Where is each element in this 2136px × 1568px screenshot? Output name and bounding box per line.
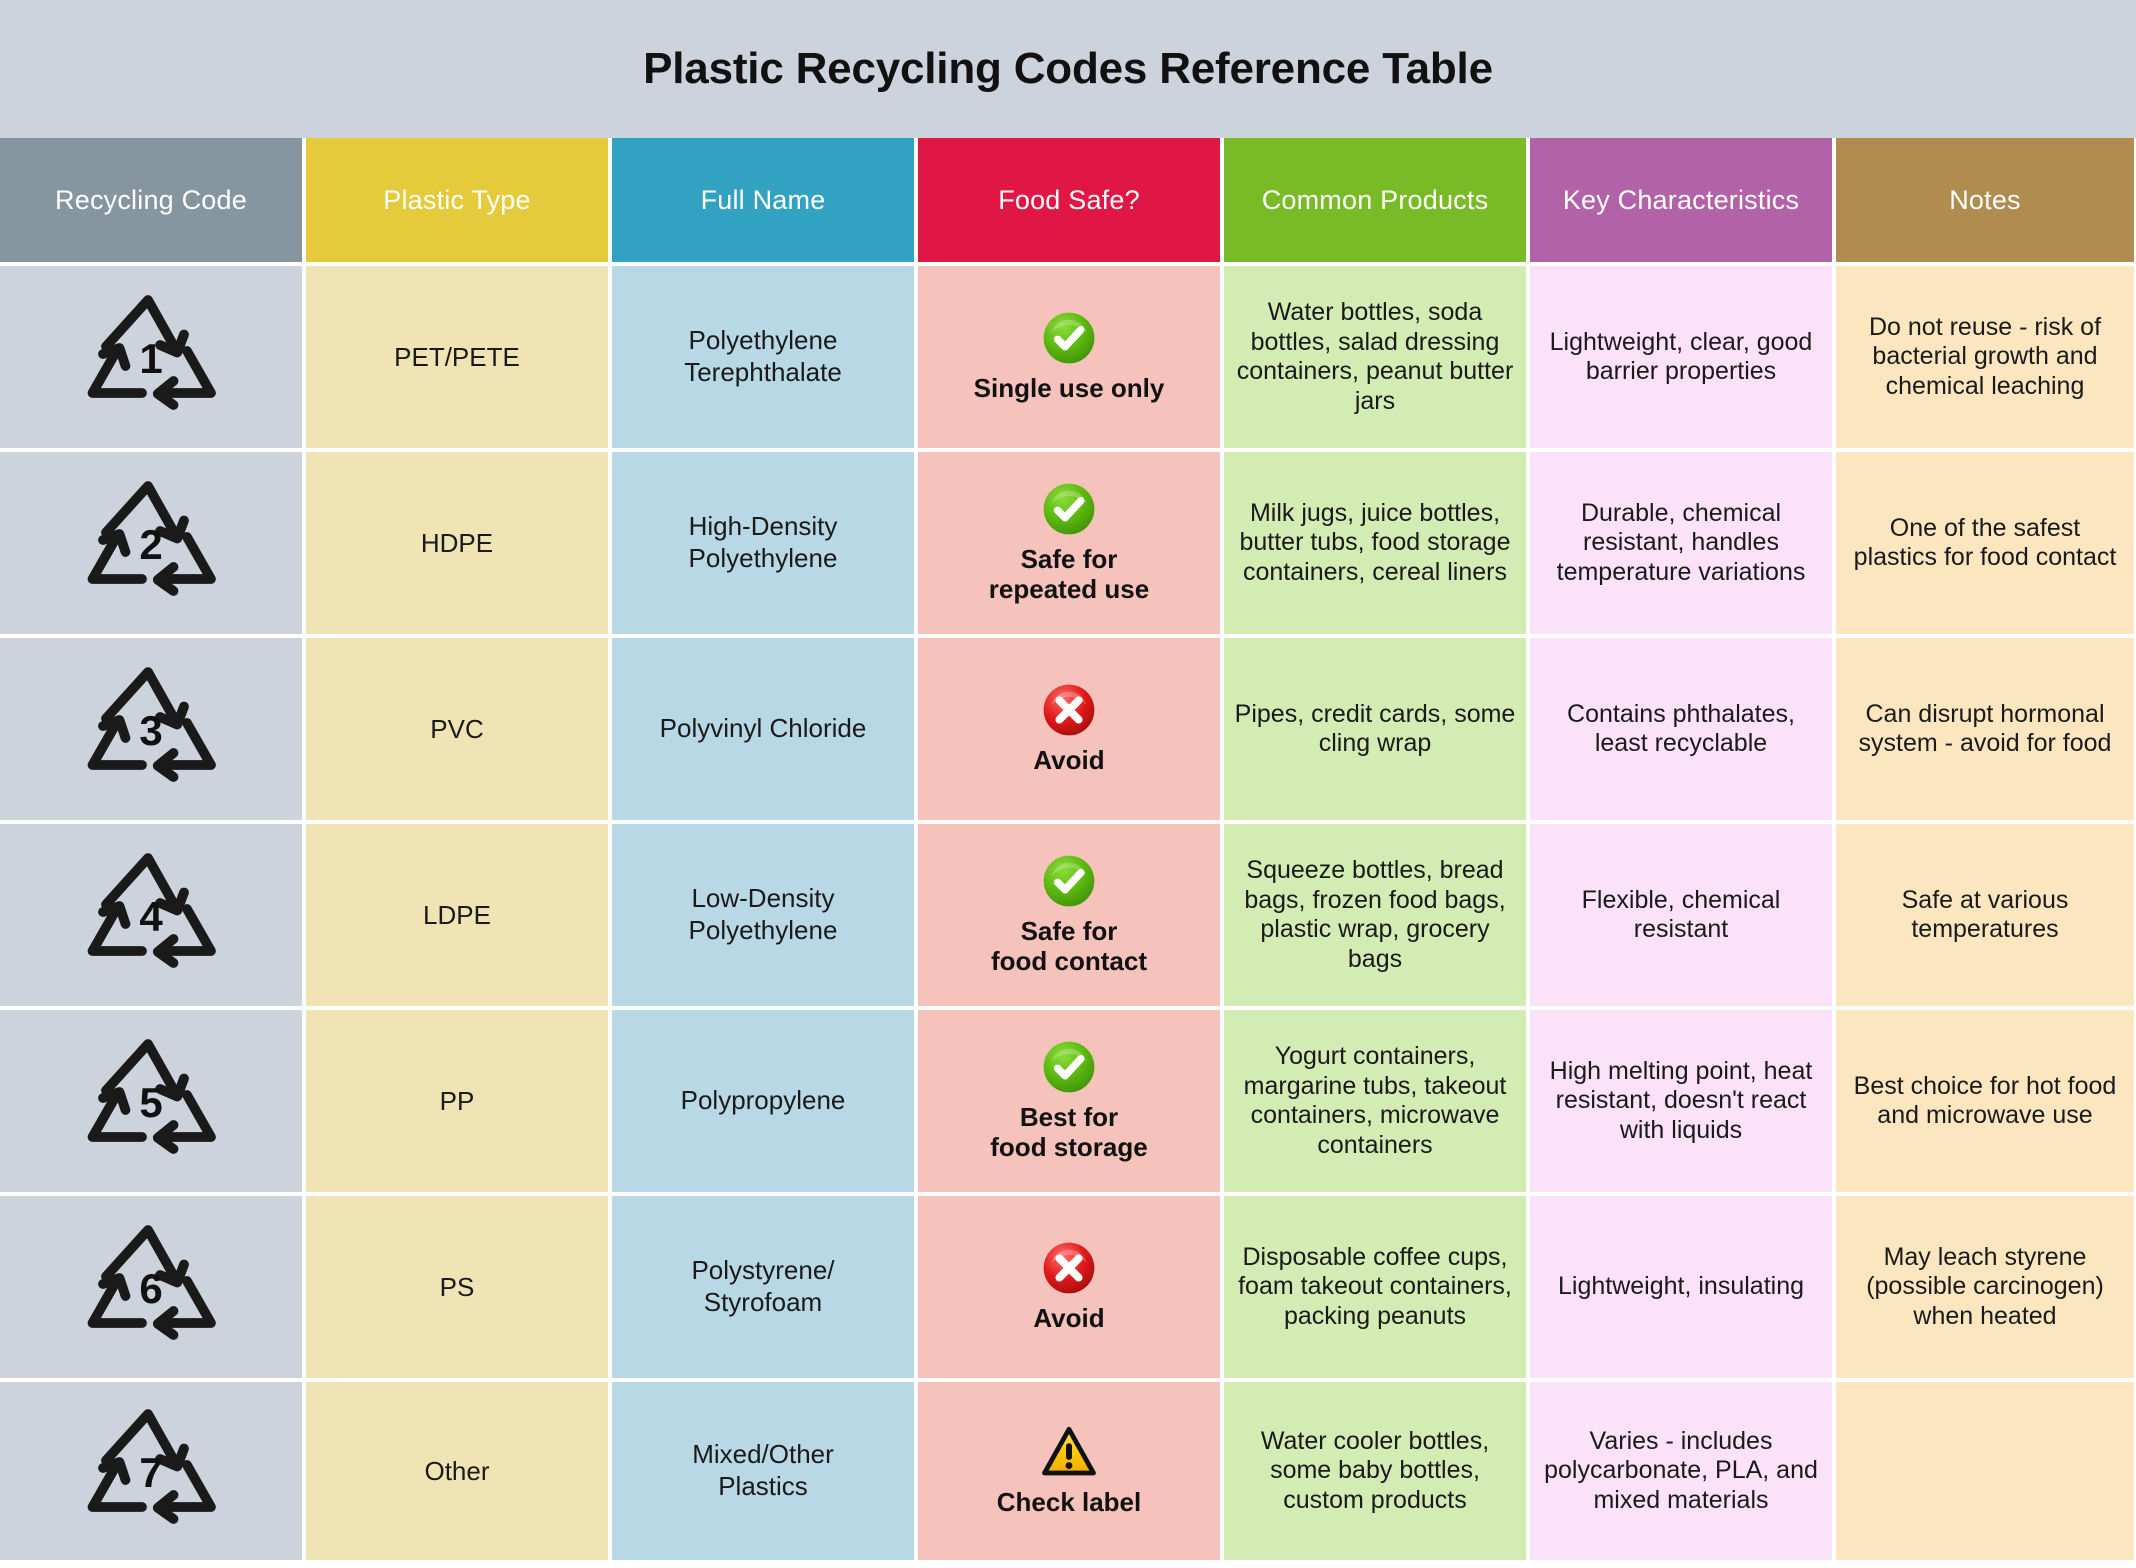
- cell-full-name: Polypropylene: [612, 1010, 914, 1192]
- recycling-symbol: 1: [76, 291, 226, 423]
- cell-notes: Do not reuse - risk of bacterial growth …: [1836, 266, 2134, 448]
- cell-recycling-code: 4: [0, 824, 302, 1006]
- cell-food-safe: Safe for food contact: [918, 824, 1220, 1006]
- cell-notes: One of the safest plastics for food cont…: [1836, 452, 2134, 634]
- mobius-loop-icon: [76, 663, 226, 795]
- check-circle-icon: [1041, 481, 1097, 537]
- food-safe-status: Best for food storage: [990, 1039, 1147, 1163]
- recycling-symbol: 4: [76, 849, 226, 981]
- food-safe-icon-host: [1041, 1240, 1097, 1296]
- cell-full-name: Mixed/Other Plastics: [612, 1382, 914, 1560]
- table-row: 1 PET/PETEPolyethylene Terephthalate Sin…: [0, 266, 2136, 448]
- cell-plastic-type: LDPE: [306, 824, 608, 1006]
- recycling-codes-page: Plastic Recycling Codes Reference Table …: [0, 0, 2136, 1568]
- cell-full-name: Polyethylene Terephthalate: [612, 266, 914, 448]
- cell-food-safe: Avoid: [918, 1196, 1220, 1378]
- food-safe-label: Avoid: [1033, 746, 1104, 776]
- table-row: 2 HDPEHigh-Density Polyethylene Safe for…: [0, 452, 2136, 634]
- table-row: 3 PVCPolyvinyl Chloride AvoidPipes, cred…: [0, 638, 2136, 820]
- cell-full-name: Polystyrene/ Styrofoam: [612, 1196, 914, 1378]
- cell-plastic-type: PET/PETE: [306, 266, 608, 448]
- cell-notes: May leach styrene (possible carcinogen) …: [1836, 1196, 2134, 1378]
- cell-notes: Best choice for hot food and microwave u…: [1836, 1010, 2134, 1192]
- food-safe-status: Check label: [997, 1424, 1142, 1518]
- cell-common-products: Milk jugs, juice bottles, butter tubs, f…: [1224, 452, 1526, 634]
- check-circle-icon: [1041, 310, 1097, 366]
- table-row: 5 PPPolypropylene Best for food storageY…: [0, 1010, 2136, 1192]
- cell-notes: Can disrupt hormonal system - avoid for …: [1836, 638, 2134, 820]
- mobius-loop-icon: [76, 291, 226, 423]
- table-row: 6 PSPolystyrene/ Styrofoam AvoidDisposab…: [0, 1196, 2136, 1378]
- cell-key-characteristics: Lightweight, insulating: [1530, 1196, 1832, 1378]
- mobius-loop-icon: [76, 477, 226, 609]
- food-safe-icon-host: [1041, 481, 1097, 537]
- title-bar: Plastic Recycling Codes Reference Table: [0, 0, 2136, 138]
- column-header-plastic_type[interactable]: Plastic Type: [306, 138, 608, 262]
- recycling-symbol: 7: [76, 1405, 226, 1537]
- cell-notes: Safe at various temperatures: [1836, 824, 2134, 1006]
- food-safe-status: Safe for food contact: [991, 853, 1147, 977]
- cell-common-products: Water bottles, soda bottles, salad dress…: [1224, 266, 1526, 448]
- check-circle-icon: [1041, 853, 1097, 909]
- cell-key-characteristics: Contains phthalates, least recyclable: [1530, 638, 1832, 820]
- check-circle-icon: [1041, 1039, 1097, 1095]
- table-row: 7 OtherMixed/Other Plastics Check labelW…: [0, 1382, 2136, 1560]
- cell-key-characteristics: High melting point, heat resistant, does…: [1530, 1010, 1832, 1192]
- table-body: 1 PET/PETEPolyethylene Terephthalate Sin…: [0, 266, 2136, 1560]
- cell-common-products: Squeeze bottles, bread bags, frozen food…: [1224, 824, 1526, 1006]
- cell-key-characteristics: Durable, chemical resistant, handles tem…: [1530, 452, 1832, 634]
- column-header-recycling_code[interactable]: Recycling Code: [0, 138, 302, 262]
- food-safe-status: Avoid: [1033, 1240, 1104, 1334]
- warning-triangle-icon: [1041, 1424, 1097, 1480]
- cell-key-characteristics: Flexible, chemical resistant: [1530, 824, 1832, 1006]
- food-safe-icon-host: [1041, 682, 1097, 738]
- x-circle-icon: [1041, 682, 1097, 738]
- cell-common-products: Pipes, credit cards, some cling wrap: [1224, 638, 1526, 820]
- cell-plastic-type: Other: [306, 1382, 608, 1560]
- column-header-key_characteristics[interactable]: Key Characteristics: [1530, 138, 1832, 262]
- cell-key-characteristics: Varies - includes polycarbonate, PLA, an…: [1530, 1382, 1832, 1560]
- cell-recycling-code: 2: [0, 452, 302, 634]
- food-safe-label: Single use only: [974, 374, 1165, 404]
- page-title: Plastic Recycling Codes Reference Table: [643, 44, 1493, 94]
- food-safe-label: Safe for food contact: [991, 917, 1147, 977]
- cell-plastic-type: PS: [306, 1196, 608, 1378]
- cell-food-safe: Single use only: [918, 266, 1220, 448]
- cell-key-characteristics: Lightweight, clear, good barrier propert…: [1530, 266, 1832, 448]
- mobius-loop-icon: [76, 1035, 226, 1167]
- column-header-full_name[interactable]: Full Name: [612, 138, 914, 262]
- recycling-symbol: 3: [76, 663, 226, 795]
- cell-recycling-code: 3: [0, 638, 302, 820]
- recycling-codes-table: Recycling CodePlastic TypeFull NameFood …: [0, 138, 2136, 1568]
- food-safe-icon-host: [1041, 1039, 1097, 1095]
- food-safe-icon-host: [1041, 1424, 1097, 1480]
- food-safe-label: Safe for repeated use: [989, 545, 1149, 605]
- x-circle-icon: [1041, 1240, 1097, 1296]
- food-safe-status: Avoid: [1033, 682, 1104, 776]
- cell-recycling-code: 7: [0, 1382, 302, 1560]
- mobius-loop-icon: [76, 1221, 226, 1353]
- cell-recycling-code: 5: [0, 1010, 302, 1192]
- cell-full-name: Polyvinyl Chloride: [612, 638, 914, 820]
- cell-food-safe: Avoid: [918, 638, 1220, 820]
- food-safe-label: Check label: [997, 1488, 1142, 1518]
- mobius-loop-icon: [76, 849, 226, 981]
- food-safe-label: Avoid: [1033, 1304, 1104, 1334]
- table-row: 4 LDPELow-Density Polyethylene Safe for …: [0, 824, 2136, 1006]
- recycling-symbol: 5: [76, 1035, 226, 1167]
- food-safe-icon-host: [1041, 310, 1097, 366]
- food-safe-icon-host: [1041, 853, 1097, 909]
- table-header-row: Recycling CodePlastic TypeFull NameFood …: [0, 138, 2136, 262]
- cell-common-products: Disposable coffee cups, foam takeout con…: [1224, 1196, 1526, 1378]
- cell-notes: [1836, 1382, 2134, 1560]
- food-safe-status: Single use only: [974, 310, 1165, 404]
- cell-common-products: Yogurt containers, margarine tubs, takeo…: [1224, 1010, 1526, 1192]
- recycling-symbol: 6: [76, 1221, 226, 1353]
- recycling-symbol: 2: [76, 477, 226, 609]
- cell-food-safe: Best for food storage: [918, 1010, 1220, 1192]
- food-safe-label: Best for food storage: [990, 1103, 1147, 1163]
- column-header-food_safe[interactable]: Food Safe?: [918, 138, 1220, 262]
- cell-plastic-type: HDPE: [306, 452, 608, 634]
- cell-common-products: Water cooler bottles, some baby bottles,…: [1224, 1382, 1526, 1560]
- mobius-loop-icon: [76, 1405, 226, 1537]
- cell-full-name: Low-Density Polyethylene: [612, 824, 914, 1006]
- food-safe-status: Safe for repeated use: [989, 481, 1149, 605]
- cell-full-name: High-Density Polyethylene: [612, 452, 914, 634]
- cell-food-safe: Check label: [918, 1382, 1220, 1560]
- cell-food-safe: Safe for repeated use: [918, 452, 1220, 634]
- cell-recycling-code: 6: [0, 1196, 302, 1378]
- column-header-notes[interactable]: Notes: [1836, 138, 2134, 262]
- cell-plastic-type: PP: [306, 1010, 608, 1192]
- cell-recycling-code: 1: [0, 266, 302, 448]
- cell-plastic-type: PVC: [306, 638, 608, 820]
- column-header-common_products[interactable]: Common Products: [1224, 138, 1526, 262]
